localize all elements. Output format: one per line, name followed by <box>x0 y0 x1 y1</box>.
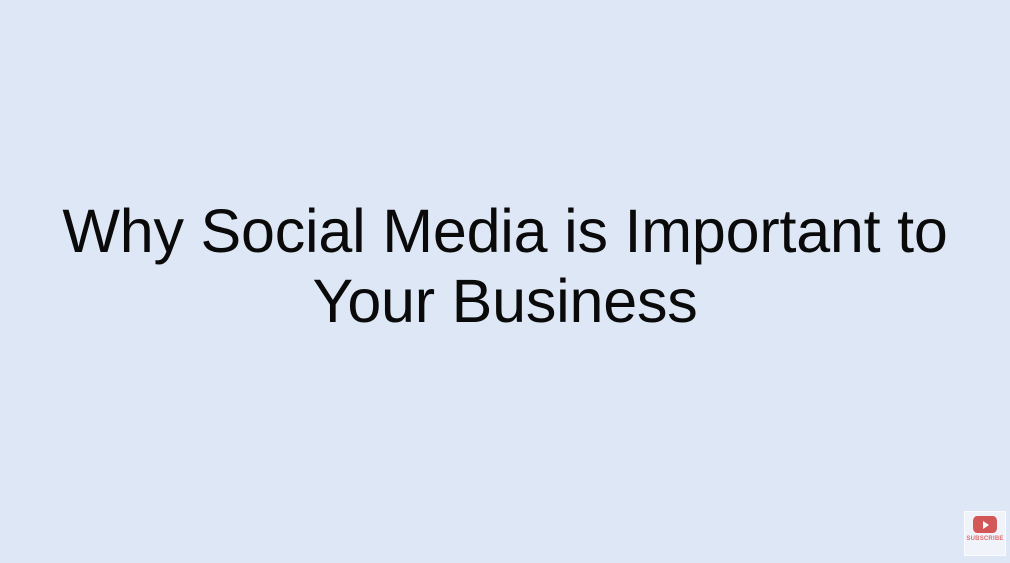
subscribe-label: SUBSCRIBE <box>966 536 1003 543</box>
slide-title-line-1: Why Social Media is Important to <box>40 196 970 266</box>
slide-title-line-2: Your Business <box>40 266 970 336</box>
youtube-play-icon[interactable] <box>973 516 997 533</box>
video-slide-frame: Why Social Media is Important to Your Bu… <box>0 0 1010 563</box>
play-triangle-icon <box>983 521 989 529</box>
youtube-subscribe-watermark[interactable]: SUBSCRIBE <box>964 511 1006 556</box>
slide-title: Why Social Media is Important to Your Bu… <box>0 196 1010 336</box>
